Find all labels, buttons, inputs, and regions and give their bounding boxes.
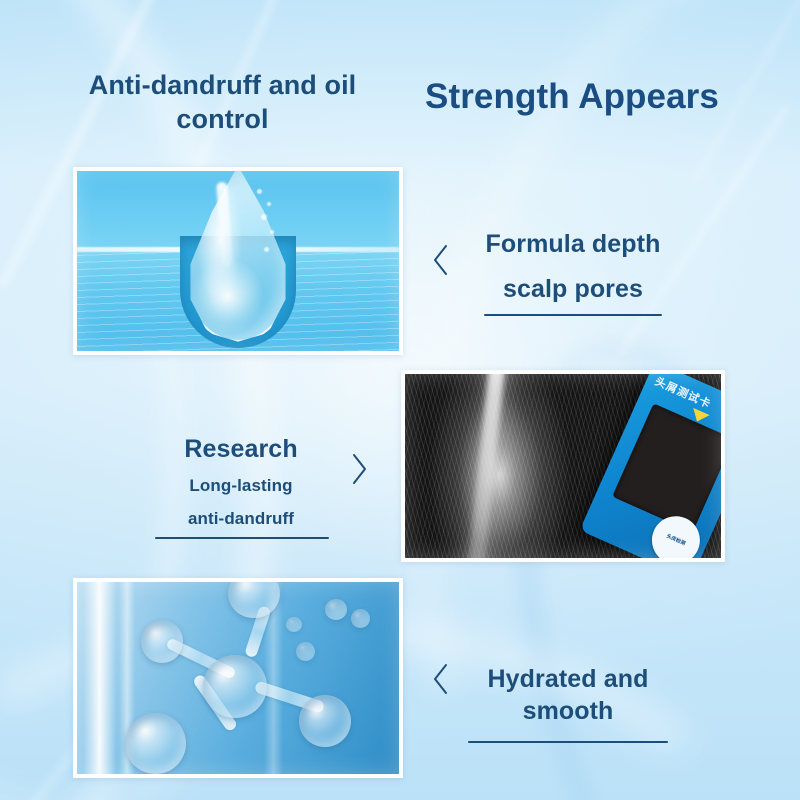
bubble-icon (267, 202, 271, 206)
bubble-icon (264, 247, 269, 252)
caption-formula-underline (484, 314, 662, 316)
page-title-left: Anti-dandruff and oil control (60, 68, 385, 136)
molecule-atom (299, 695, 351, 747)
page-title-right: Strength Appears (425, 78, 760, 117)
chevron-left-icon[interactable] (430, 662, 452, 696)
molecule-atom-small (351, 609, 370, 628)
caption-hydrated-underline (468, 741, 668, 743)
molecule-atom (141, 620, 183, 662)
image-molecule (73, 578, 403, 778)
caption-formula-depth: Formula depth scalp pores (468, 228, 678, 316)
caption-research-subtitle-line1: Long-lasting (176, 475, 306, 498)
caption-hydrated-smooth: Hydrated and smooth (468, 663, 668, 743)
caption-research-title: Research (176, 433, 306, 465)
caption-formula-line1: Formula depth (468, 228, 678, 260)
caption-research: Research Long-lasting anti-dandruff (176, 433, 306, 539)
molecule-light-column-1 (83, 582, 115, 774)
chevron-right-icon[interactable] (348, 452, 370, 486)
chevron-left-icon[interactable] (430, 243, 452, 277)
molecule-atom (125, 713, 186, 774)
bubble-icon (261, 214, 267, 220)
caption-research-subtitle-line2: anti-dandruff (176, 508, 306, 531)
image-scalp-test-card: 头屑测试卡 头皮检测 (401, 370, 725, 562)
image-pore-droplet (73, 167, 403, 355)
caption-research-underline (155, 537, 329, 539)
caption-hydrated-line1: Hydrated and smooth (468, 663, 668, 727)
molecule-atom-center (203, 655, 267, 718)
caption-formula-line2: scalp pores (468, 273, 678, 305)
device-badge-label: 头皮检测 (665, 534, 686, 547)
molecule-atom-small (296, 642, 315, 661)
